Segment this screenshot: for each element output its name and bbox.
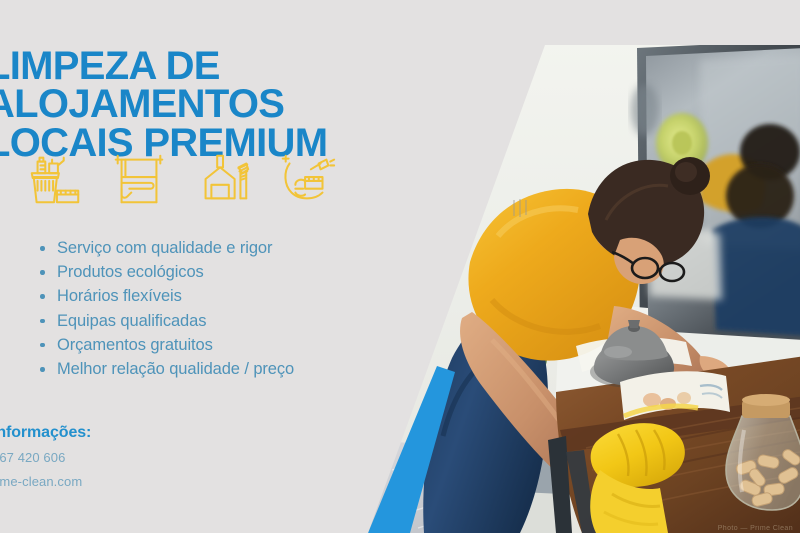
list-item: Equipas qualificadas <box>32 309 392 333</box>
dustpan-brush-icon <box>192 148 254 210</box>
list-item: Horários flexíveis <box>32 284 392 308</box>
service-icon-row <box>24 143 374 215</box>
gloved-hand-spray-icon <box>276 148 338 210</box>
list-item: Melhor relação qualidade / preço <box>32 357 392 381</box>
contact-website[interactable]: rime-clean.com <box>0 474 252 489</box>
contact-phone[interactable]: 967 420 606 <box>0 450 252 465</box>
service-benefits-list: Serviço com qualidade e rigor Produtos e… <box>32 236 392 381</box>
cleaning-bucket-supplies-icon <box>24 148 86 210</box>
slide-canvas: LIMPEZA DE ALOJAMENTOS LOCAIS PREMIUM <box>0 0 800 533</box>
list-item: Serviço com qualidade e rigor <box>32 236 392 260</box>
photo-credit: Photo — Prime Clean <box>718 525 793 532</box>
list-item: Orçamentos gratuitos <box>32 333 392 357</box>
contact-block: Informações: 967 420 606 rime-clean.com <box>0 424 252 498</box>
folded-towels-rail-icon <box>108 148 170 210</box>
contact-heading: Informações: <box>0 424 252 442</box>
list-item: Produtos ecológicos <box>32 260 392 284</box>
